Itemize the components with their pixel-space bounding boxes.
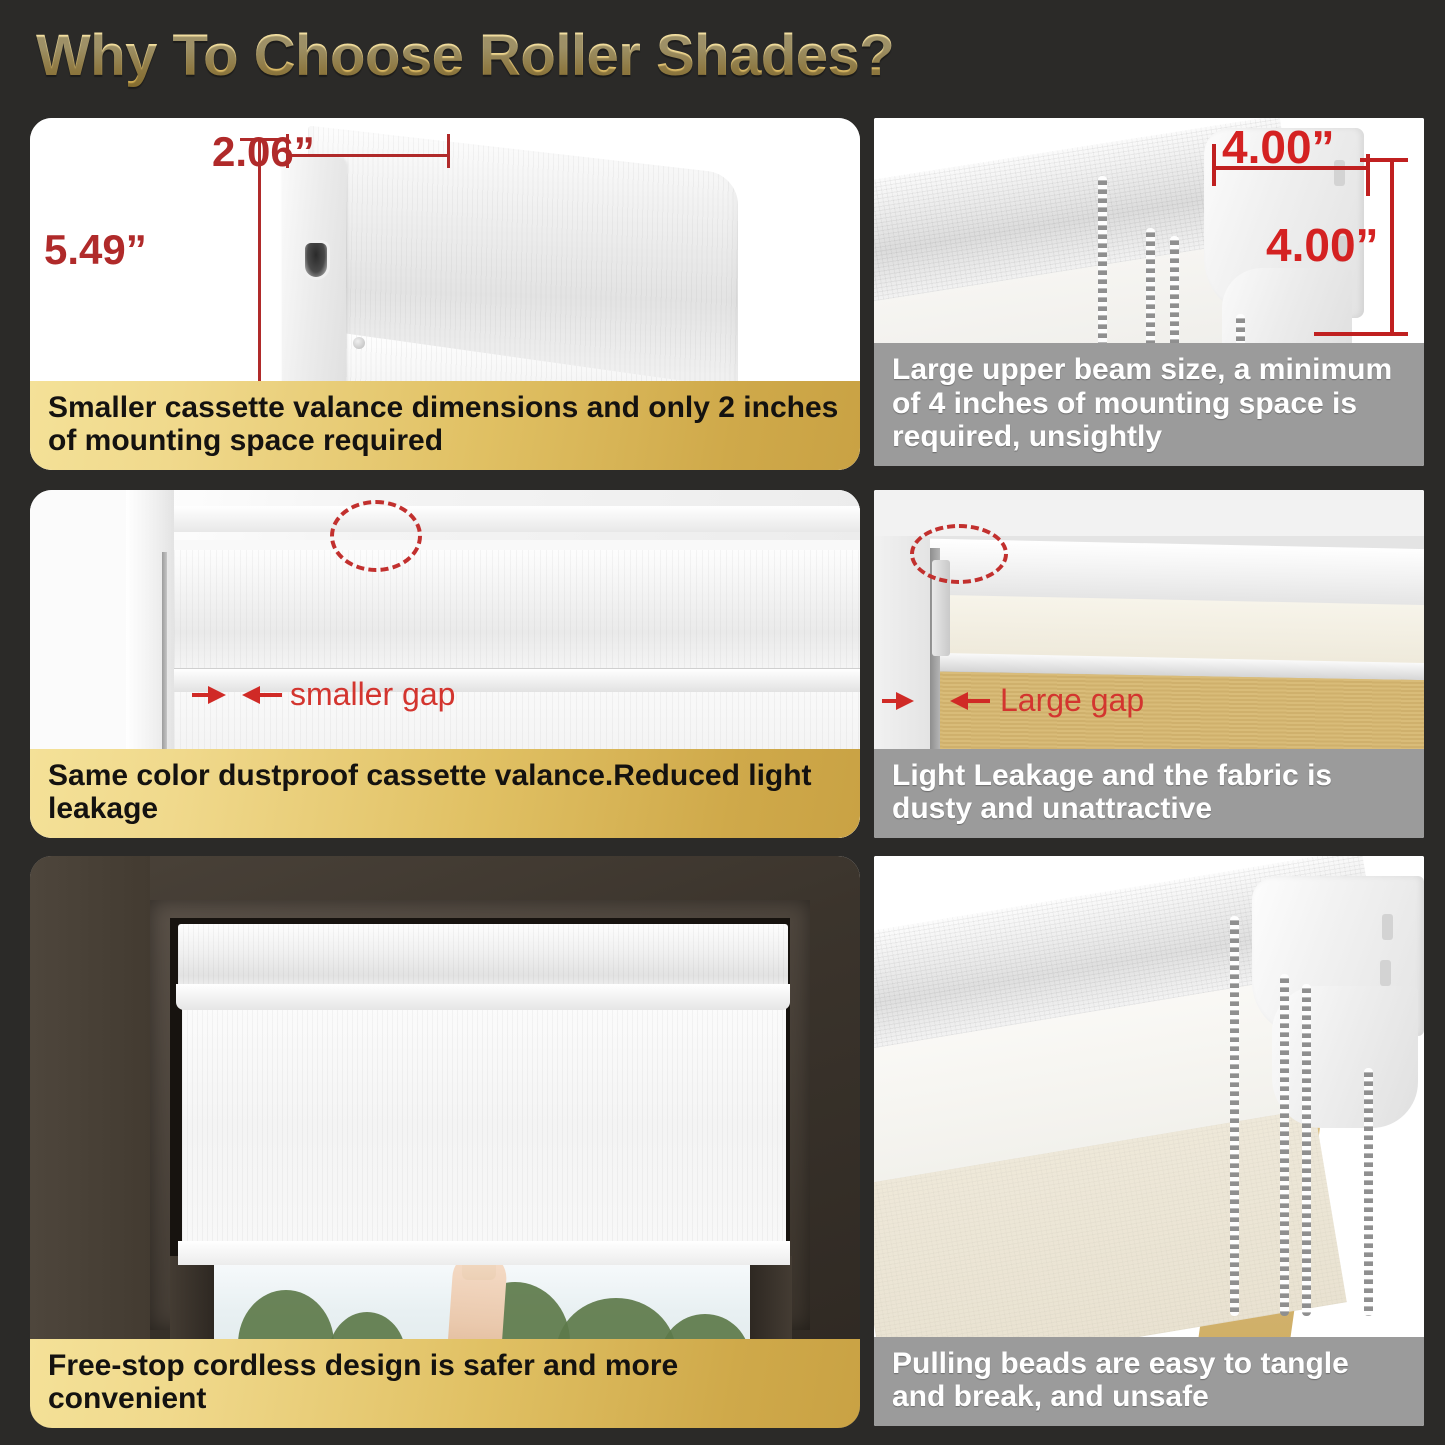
panel-dustproof-cassette-valance: smaller gap Same color dustproof cassett… bbox=[30, 490, 860, 838]
gap-arrow-right-stem bbox=[256, 693, 282, 697]
caption-cassette-valance-dimensions: Smaller cassette valance dimensions and … bbox=[30, 381, 860, 470]
shade-upper-section bbox=[168, 550, 860, 668]
dim-height-tick-top-2 bbox=[1360, 158, 1408, 162]
dim-height-label-2: 4.00” bbox=[1266, 218, 1379, 272]
gap-arrow-left-stem-2 bbox=[882, 699, 902, 703]
panel-free-stop-cordless: Free-stop cordless design is safer and m… bbox=[30, 856, 860, 1428]
gap-label-large: Large gap bbox=[1000, 682, 1144, 719]
dim-height-line-2 bbox=[1390, 158, 1394, 336]
bead-chain-5 bbox=[1230, 916, 1239, 1316]
mounting-bracket-lower-2 bbox=[1272, 986, 1418, 1128]
bracket-slot-c bbox=[1382, 914, 1393, 940]
gap-arrow-right-stem-2 bbox=[964, 699, 990, 703]
dim-width-tick-left-2 bbox=[1212, 144, 1216, 186]
shade-bottom-rail bbox=[178, 1241, 790, 1265]
dim-width-tick-right bbox=[447, 134, 450, 168]
highlight-circle-icon bbox=[330, 500, 422, 572]
bead-chain-6 bbox=[1280, 974, 1289, 1316]
dim-height-tick-bottom-2 bbox=[1314, 332, 1408, 336]
roller-shade-fabric bbox=[182, 1008, 786, 1248]
panel-cassette-valance-dimensions: 2.06” 5.49” Smaller cassette valance dim… bbox=[30, 118, 860, 470]
caption-pulling-beads-unsafe: Pulling beads are easy to tangle and bre… bbox=[874, 1337, 1424, 1426]
bracket-slot-d bbox=[1380, 960, 1391, 986]
end-cap-screw-upper bbox=[353, 337, 365, 349]
gap-label-smaller: smaller gap bbox=[290, 676, 455, 713]
bracket-slot-a bbox=[1334, 160, 1345, 186]
gap-arrow-left-stem bbox=[192, 693, 214, 697]
dim-height-tick-top bbox=[240, 138, 280, 141]
bead-chain-7 bbox=[1302, 984, 1311, 1316]
caption-free-stop-cordless: Free-stop cordless design is safer and m… bbox=[30, 1339, 860, 1428]
infographic-page: Why To Choose Roller Shades? 2.06” 5.49”… bbox=[0, 0, 1445, 1445]
bead-chain-8 bbox=[1364, 1068, 1373, 1316]
dim-width-label-2: 4.00” bbox=[1222, 120, 1335, 174]
dim-height-label: 5.49” bbox=[44, 226, 147, 274]
end-cap-slot bbox=[302, 240, 330, 280]
panel-large-upper-beam: 4.00” 4.00” Large upper beam size, a min… bbox=[874, 118, 1424, 466]
cassette-valance-lip bbox=[176, 984, 790, 1010]
dim-width-label: 2.06” bbox=[212, 128, 315, 176]
caption-light-leakage: Light Leakage and the fabric is dusty an… bbox=[874, 749, 1424, 838]
shade-mid-rail bbox=[162, 668, 860, 692]
panel-pulling-beads-unsafe: Pulling beads are easy to tangle and bre… bbox=[874, 856, 1424, 1426]
panel-light-leakage: Large gap Light Leakage and the fabric i… bbox=[874, 490, 1424, 838]
highlight-circle-icon-2 bbox=[910, 524, 1008, 584]
caption-dustproof-cassette-valance: Same color dustproof cassette valance.Re… bbox=[30, 749, 860, 838]
caption-large-upper-beam: Large upper beam size, a minimum of 4 in… bbox=[874, 343, 1424, 466]
window-frame-bevel bbox=[138, 506, 860, 532]
page-title: Why To Choose Roller Shades? bbox=[36, 22, 894, 89]
